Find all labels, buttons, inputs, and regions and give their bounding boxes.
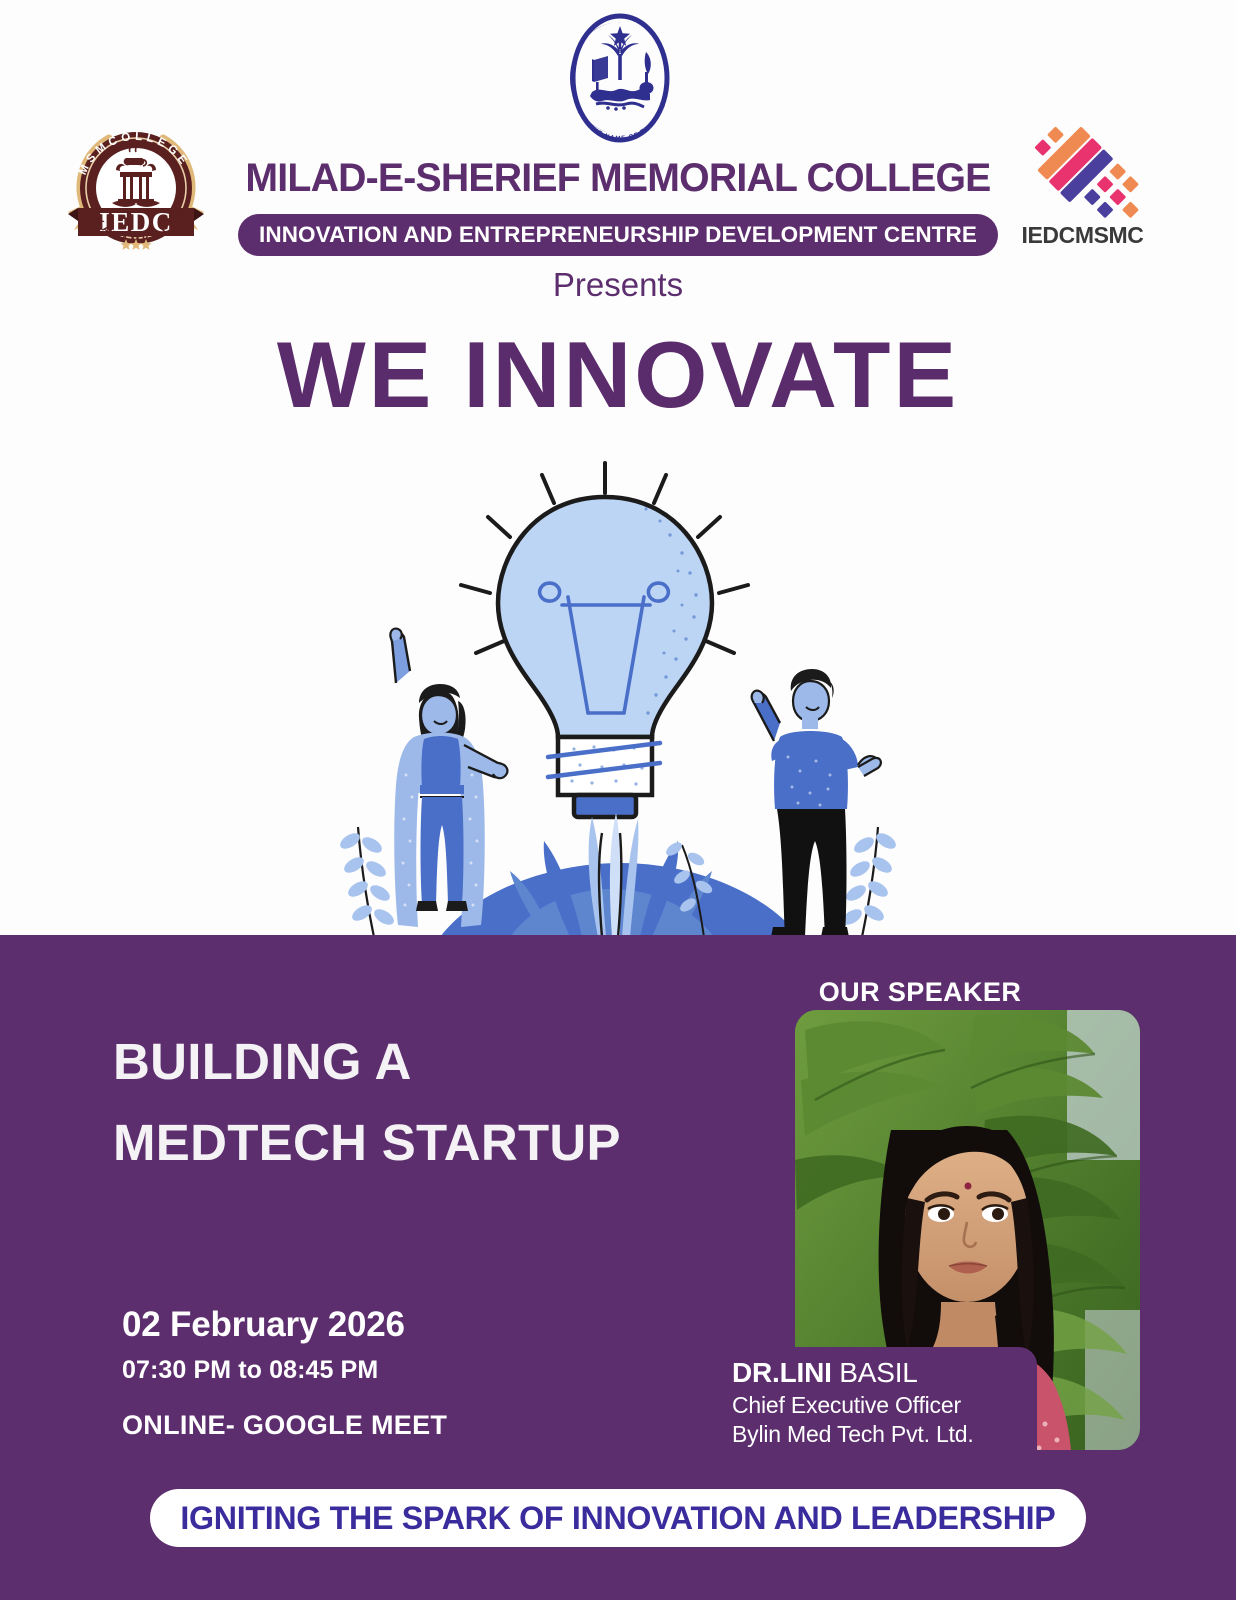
speaker-name-title: DR.LINI	[732, 1357, 832, 1388]
speaker-organization: Bylin Med Tech Pvt. Ltd.	[732, 1421, 1017, 1448]
speaker-name-surname: BASIL	[832, 1357, 918, 1388]
speaker-name-card: DR.LINI BASIL Chief Executive Officer By…	[690, 1347, 1037, 1462]
woman-figure	[390, 629, 507, 927]
session-title: BUILDING A MEDTECH STARTUP	[113, 1022, 773, 1183]
event-time: 07:30 PM to 08:45 PM	[122, 1356, 682, 1385]
poster-top-section: READ IN THE NAME OF THY LORD WHO CREATED	[0, 0, 1236, 935]
centre-name-banner: INNOVATION AND ENTREPRENEURSHIP DEVELOPM…	[238, 214, 998, 256]
page-title: WE INNOVATE	[0, 328, 1236, 422]
lightbulb-illustration	[330, 445, 910, 940]
event-poster: READ IN THE NAME OF THY LORD WHO CREATED	[0, 0, 1236, 1600]
speaker-section-label: OUR SPEAKER	[775, 977, 1065, 1008]
tagline-text: IGNITING THE SPARK OF INNOVATION AND LEA…	[180, 1500, 1055, 1537]
speaker-role: Chief Executive Officer	[732, 1392, 1017, 1419]
event-details: 02 February 2026 07:30 PM to 08:45 PM ON…	[122, 1305, 682, 1441]
speaker-name: DR.LINI BASIL	[732, 1357, 1017, 1389]
tagline-banner: IGNITING THE SPARK OF INNOVATION AND LEA…	[150, 1489, 1086, 1547]
college-name: MILAD-E-SHERIEF MEMORIAL COLLEGE	[12, 156, 1223, 201]
session-title-line-2: MEDTECH STARTUP	[113, 1103, 773, 1184]
iedcmsmc-wordmark: IEDCMSMC	[1005, 222, 1160, 249]
presents-label: Presents	[0, 266, 1236, 304]
session-title-line-1: BUILDING A	[113, 1022, 773, 1103]
event-venue: ONLINE- GOOGLE MEET	[122, 1410, 682, 1441]
university-seal-icon: READ IN THE NAME OF THY LORD WHO CREATED	[556, 8, 684, 148]
event-date: 02 February 2026	[122, 1305, 682, 1345]
man-figure	[752, 669, 881, 937]
